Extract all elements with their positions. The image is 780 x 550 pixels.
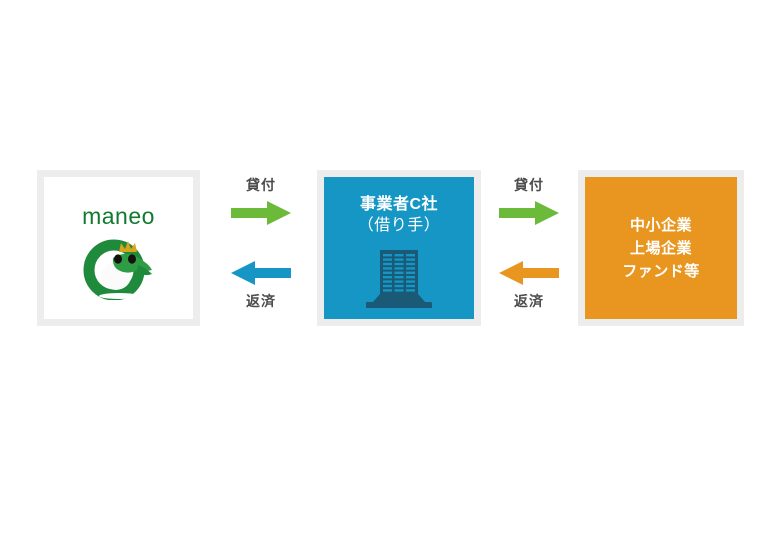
lending-flow-diagram: maneo 貸付 [0, 0, 780, 550]
borrower-subtitle: （借り手） [358, 215, 441, 236]
node-investors: 中小企業 上場企業 ファンド等 [578, 170, 744, 326]
maneo-frog-crown-logo-icon [83, 234, 155, 300]
arrow-right-lending-1-icon [231, 200, 291, 226]
office-building-icon [362, 248, 436, 310]
investors-line-2: 上場企業 [622, 237, 700, 260]
node-lender-maneo: maneo [37, 170, 200, 326]
maneo-wordmark: maneo [82, 205, 155, 228]
flow-lender-borrower: 貸付 返済 [215, 176, 307, 310]
node-borrower-company-c: 事業者C社 （借り手） [317, 170, 481, 326]
flow-label-lending-1: 貸付 [246, 176, 276, 194]
flow-label-repayment-1: 返済 [246, 292, 276, 310]
arrow-right-lending-2-icon [499, 200, 559, 226]
flow-label-repayment-2: 返済 [514, 292, 544, 310]
investors-line-3: ファンド等 [622, 260, 700, 283]
arrow-left-repayment-1-icon [231, 260, 291, 286]
investors-text-block: 中小企業 上場企業 ファンド等 [622, 214, 700, 283]
investors-line-1: 中小企業 [622, 214, 700, 237]
flow-label-lending-2: 貸付 [514, 176, 544, 194]
arrow-left-repayment-2-icon [499, 260, 559, 286]
borrower-title: 事業者C社 [360, 194, 438, 215]
flow-borrower-investors: 貸付 返済 [483, 176, 575, 310]
